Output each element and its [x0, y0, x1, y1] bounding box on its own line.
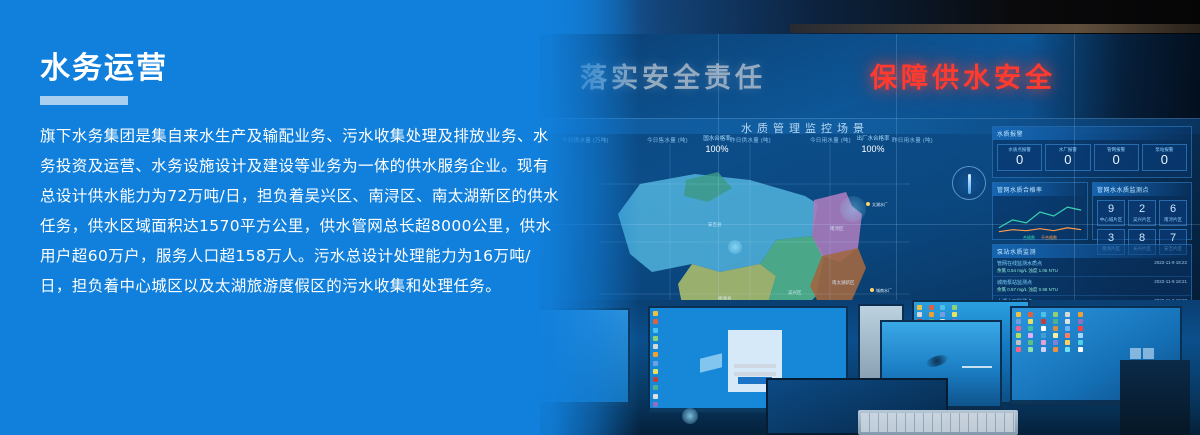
- alarm-cell: 管网报警 0: [1094, 144, 1139, 171]
- event-name: 管网在线监测水质点: [997, 260, 1042, 267]
- event-time: 2022-11-9 18:22: [1154, 260, 1187, 267]
- panel-water-quality-alarm: 水质报警 水质点报警 0 水厂报警 0 管网报警 0: [992, 126, 1192, 178]
- title-underline-rule: [40, 96, 128, 105]
- wall-seam-v1: [718, 34, 719, 312]
- alarm-cell-value: 0: [1143, 153, 1186, 167]
- description-paragraph: 旗下水务集团是集自来水生产及输配业务、污水收集处理及排放业务、水务投资及运营、水…: [40, 121, 560, 301]
- point-value: 2: [1129, 204, 1155, 215]
- panel-alarm-title: 水质报警: [993, 127, 1191, 140]
- water-operations-banner: 落实安全责任 保障供水安全 水质管理监控场景 今日供水量 (万吨) 今日售水量 …: [0, 0, 1200, 435]
- windows-icon-grid: [1016, 312, 1088, 352]
- alarm-cell-value: 0: [1095, 153, 1138, 167]
- side-equipment-rack: [1120, 360, 1190, 435]
- panel-pass-rate-title: 管网水质合格率: [993, 183, 1087, 196]
- event-name: 城南泵站监测点: [997, 279, 1032, 286]
- event-row: 城南泵站监测点 2022-11-9 18:21 余氯 0.57 mg/L 浊度 …: [993, 277, 1191, 296]
- keyboard[interactable]: [858, 410, 1018, 435]
- text-block: 水务运营 旗下水务集团是集自来水生产及输配业务、污水收集处理及排放业务、水务投资…: [40, 52, 560, 301]
- point-value: 9: [1098, 204, 1124, 215]
- svg-text:南太湖新区: 南太湖新区: [832, 279, 855, 286]
- pass-rate-chart: [993, 196, 1087, 236]
- point-value: 8: [1129, 233, 1155, 244]
- event-metric: 余氯 0.54 mg/L 浊度 1.06 NTU: [997, 268, 1187, 274]
- alarm-cell: 水质点报警 0: [997, 144, 1042, 171]
- point-value: 3: [1098, 233, 1124, 244]
- point-label: 南浔片区: [1160, 217, 1186, 223]
- alarm-grid: 水质点报警 0 水厂报警 0 管网报警 0 泵站报警: [993, 140, 1191, 175]
- legend-fail: 不合格数: [1041, 235, 1057, 241]
- alarm-cell: 水厂报警 0: [1045, 144, 1090, 171]
- ceiling-edge: [790, 24, 1200, 33]
- page-title: 水务运营: [40, 52, 560, 85]
- legend-pass: 合格数: [1023, 235, 1035, 241]
- svg-text:城南水厂: 城南水厂: [876, 287, 892, 293]
- rate-outlet-label: 出厂水合格率: [838, 134, 908, 142]
- slogan-water-supply-safety: 保障供水安全: [870, 56, 1056, 95]
- map-markers: 太湖水厂 城南水厂: [866, 201, 892, 293]
- point-label: 中心城片区: [1098, 217, 1124, 223]
- alarm-cell: 泵站报警 0: [1142, 144, 1187, 171]
- wall-seam-v3: [1074, 34, 1075, 312]
- point-label: 吴兴片区: [1129, 217, 1155, 223]
- svg-text:吴兴区: 吴兴区: [788, 289, 802, 296]
- event-time: 2022-11-9 18:21: [1154, 279, 1187, 286]
- rate-inlet-label: 国水合格率: [682, 134, 752, 142]
- desktop-icon-column: [652, 310, 666, 410]
- swimmer-figure: [925, 353, 949, 369]
- point-value: 7: [1160, 233, 1186, 244]
- map-pulse-glow: [728, 240, 742, 254]
- panel-points-title: 管网水水质监测点: [1093, 183, 1191, 196]
- ocean-caption: [962, 366, 992, 368]
- compass-icon: [952, 166, 986, 200]
- svg-text:太湖水厂: 太湖水厂: [872, 201, 888, 207]
- point-cell: 2 吴兴片区: [1128, 200, 1156, 226]
- wall-seam-v2: [896, 34, 897, 312]
- alarm-cell-value: 0: [1046, 153, 1089, 167]
- logo-watermark: [700, 353, 722, 372]
- event-metric: 余氯 0.57 mg/L 浊度 0.98 NTU: [997, 287, 1187, 293]
- point-value: 6: [1160, 204, 1186, 215]
- svg-text:南浔区: 南浔区: [830, 225, 844, 232]
- wall-glow-a: [840, 196, 866, 222]
- panel-monitoring-points: 管网水水质监测点 9 中心城片区 2 吴兴片区 6 南浔片区: [1092, 182, 1192, 240]
- alarm-cell-value: 0: [998, 153, 1041, 167]
- point-cell: 9 中心城片区: [1097, 200, 1125, 226]
- panel-pump-title: 泵站水质监测: [993, 245, 1191, 258]
- desk-glow: [682, 408, 698, 424]
- point-cell: 6 南浔片区: [1159, 200, 1187, 226]
- event-row: 管网在线监测水质点 2022-11-9 18:22 余氯 0.54 mg/L 浊…: [993, 258, 1191, 277]
